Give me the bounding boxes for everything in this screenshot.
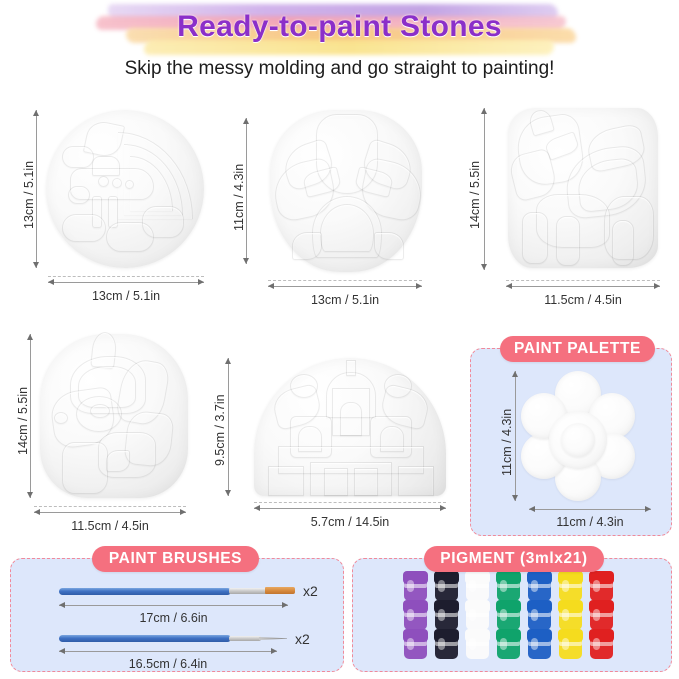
pigment-pot-highlight bbox=[593, 580, 600, 592]
pigment-pot-highlight bbox=[500, 609, 507, 621]
stone-width-label: 13cm / 5.1in bbox=[48, 289, 204, 303]
stone-height-label: 9.5cm / 3.7in bbox=[213, 386, 227, 466]
pigment-pot-blue bbox=[527, 600, 552, 630]
dim-guide bbox=[506, 280, 660, 281]
pigment-pot-yellow bbox=[558, 600, 583, 630]
unicorn-head-stone-art bbox=[40, 334, 188, 498]
castle-dome-stone-art bbox=[254, 358, 446, 496]
pigment-pot-highlight bbox=[438, 638, 445, 650]
stone-width-dim-line bbox=[34, 512, 186, 513]
header: Ready-to-paint Stones Skip the messy mol… bbox=[0, 0, 679, 96]
palette-height-label: 11cm / 4.3in bbox=[500, 396, 514, 476]
stone-card-airplane-rainbow: 13cm / 5.1in 13cm / 5.1in bbox=[8, 104, 220, 309]
paint-brushes-badge-label: PAINT BRUSHES bbox=[109, 550, 242, 568]
stone-height-label: 13cm / 5.1in bbox=[22, 149, 36, 229]
pigment-pot-highlight bbox=[469, 580, 476, 592]
stone-height-label: 14cm / 5.5in bbox=[16, 375, 30, 455]
brush-bristles-fine bbox=[259, 637, 287, 640]
brush-ferrule-flat bbox=[229, 588, 267, 594]
pigment-pot-highlight bbox=[407, 580, 414, 592]
stone-width-dim-line bbox=[48, 282, 204, 283]
paint-palette-panel: 11cm / 4.3in 11cm / 4.3in bbox=[470, 348, 672, 536]
pigment-pot-blue bbox=[527, 571, 552, 601]
pigment-badge: PIGMENT (3mlx21) bbox=[424, 546, 604, 572]
paint-palette-badge: PAINT PALETTE bbox=[500, 336, 655, 362]
winged-heart-stone-art bbox=[270, 110, 422, 272]
stone-card-pegasus: 14cm / 5.5in 11.5cm / 4.5in bbox=[448, 104, 676, 316]
dim-guide bbox=[48, 276, 204, 277]
paint-brushes-badge: PAINT BRUSHES bbox=[92, 546, 259, 572]
pigment-pot-highlight bbox=[469, 609, 476, 621]
brush-ferrule-fine bbox=[229, 636, 261, 641]
palette-center-inner bbox=[561, 423, 595, 457]
stone-width-dim-line bbox=[506, 286, 660, 287]
pigment-pot-highlight bbox=[562, 580, 569, 592]
pigment-pot-red bbox=[589, 571, 614, 601]
palette-width-label: 11cm / 4.3in bbox=[529, 515, 651, 529]
pigment-pot-purple bbox=[403, 600, 428, 630]
pigment-pot-green bbox=[496, 600, 521, 630]
stone-height-label: 11cm / 4.3in bbox=[232, 151, 246, 231]
pigment-pot-yellow bbox=[558, 629, 583, 659]
stone-card-unicorn-head: 14cm / 5.5in 11.5cm / 4.5in bbox=[8, 330, 220, 535]
airplane-rainbow-stone-art bbox=[46, 110, 204, 268]
pigment-pot-white bbox=[465, 571, 490, 601]
stone-height-dim-line bbox=[36, 110, 37, 268]
pigment-pot-highlight bbox=[407, 638, 414, 650]
pigment-pot-highlight bbox=[562, 638, 569, 650]
pigment-pot-black bbox=[434, 629, 459, 659]
stone-card-castle-dome: 9.5cm / 3.7in 5.7cm / 14.5in bbox=[212, 330, 462, 535]
palette-width-dim-line bbox=[529, 509, 651, 510]
pigment-pot-highlight bbox=[531, 609, 538, 621]
pigment-pot-blue bbox=[527, 629, 552, 659]
stone-width-label: 11.5cm / 4.5in bbox=[498, 293, 668, 307]
stone-width-label: 13cm / 5.1in bbox=[268, 293, 422, 307]
brush-qty-label: x2 bbox=[295, 631, 310, 647]
pigment-pot-highlight bbox=[593, 638, 600, 650]
stone-height-label: 14cm / 5.5in bbox=[468, 149, 482, 229]
dim-guide bbox=[34, 506, 186, 507]
stone-height-dim-line bbox=[484, 108, 485, 270]
stone-card-winged-heart: 11cm / 4.3in 13cm / 5.1in bbox=[228, 104, 440, 309]
brush-handle-flat bbox=[59, 588, 231, 595]
brush-length-dim-line bbox=[59, 605, 288, 606]
page-subtitle: Skip the messy molding and go straight t… bbox=[0, 58, 679, 80]
pigment-pot-highlight bbox=[500, 580, 507, 592]
palette-height-dim-line bbox=[515, 371, 516, 501]
dim-guide bbox=[254, 502, 446, 503]
brush-handle-fine bbox=[59, 635, 231, 642]
pigment-pot-grid bbox=[403, 571, 623, 663]
pigment-pot-highlight bbox=[531, 580, 538, 592]
pigment-pot-yellow bbox=[558, 571, 583, 601]
stone-height-dim-line bbox=[30, 334, 31, 498]
stone-width-label: 11.5cm / 4.5in bbox=[26, 519, 194, 533]
brush-bristles-flat bbox=[265, 587, 295, 594]
pigment-pot-black bbox=[434, 571, 459, 601]
pegasus-stone-art bbox=[508, 108, 658, 268]
pigment-pot-white bbox=[465, 600, 490, 630]
page-title: Ready-to-paint Stones bbox=[0, 10, 679, 44]
pigment-pot-highlight bbox=[531, 638, 538, 650]
pigment-pot-highlight bbox=[407, 609, 414, 621]
pigment-pot-white bbox=[465, 629, 490, 659]
brush-length-label: 17cm / 6.6in bbox=[59, 611, 288, 625]
pigment-pot-highlight bbox=[500, 638, 507, 650]
pigment-panel bbox=[352, 558, 672, 672]
brush-length-dim-line bbox=[59, 651, 277, 652]
pigment-pot-highlight bbox=[593, 609, 600, 621]
stone-height-dim-line bbox=[228, 358, 229, 496]
pigment-pot-green bbox=[496, 571, 521, 601]
pigment-pot-highlight bbox=[469, 638, 476, 650]
stone-height-dim-line bbox=[246, 118, 247, 264]
pigment-pot-highlight bbox=[438, 580, 445, 592]
pigment-badge-label: PIGMENT (3mlx21) bbox=[440, 550, 587, 568]
pigment-pot-purple bbox=[403, 629, 428, 659]
paint-brushes-panel: x2 17cm / 6.6in x2 16.5cm / 6.4in bbox=[10, 558, 344, 672]
pigment-pot-red bbox=[589, 629, 614, 659]
stone-width-dim-line bbox=[254, 508, 446, 509]
pigment-pot-red bbox=[589, 600, 614, 630]
paint-palette-badge-label: PAINT PALETTE bbox=[514, 340, 641, 358]
brush-length-label: 16.5cm / 6.4in bbox=[59, 657, 277, 671]
pigment-pot-purple bbox=[403, 571, 428, 601]
pigment-pot-black bbox=[434, 600, 459, 630]
dim-guide bbox=[268, 280, 422, 281]
brush-qty-label: x2 bbox=[303, 583, 318, 599]
stone-width-label: 5.7cm / 14.5in bbox=[254, 515, 446, 529]
pigment-pot-highlight bbox=[562, 609, 569, 621]
pigment-pot-highlight bbox=[438, 609, 445, 621]
pigment-pot-green bbox=[496, 629, 521, 659]
stone-width-dim-line bbox=[268, 286, 422, 287]
